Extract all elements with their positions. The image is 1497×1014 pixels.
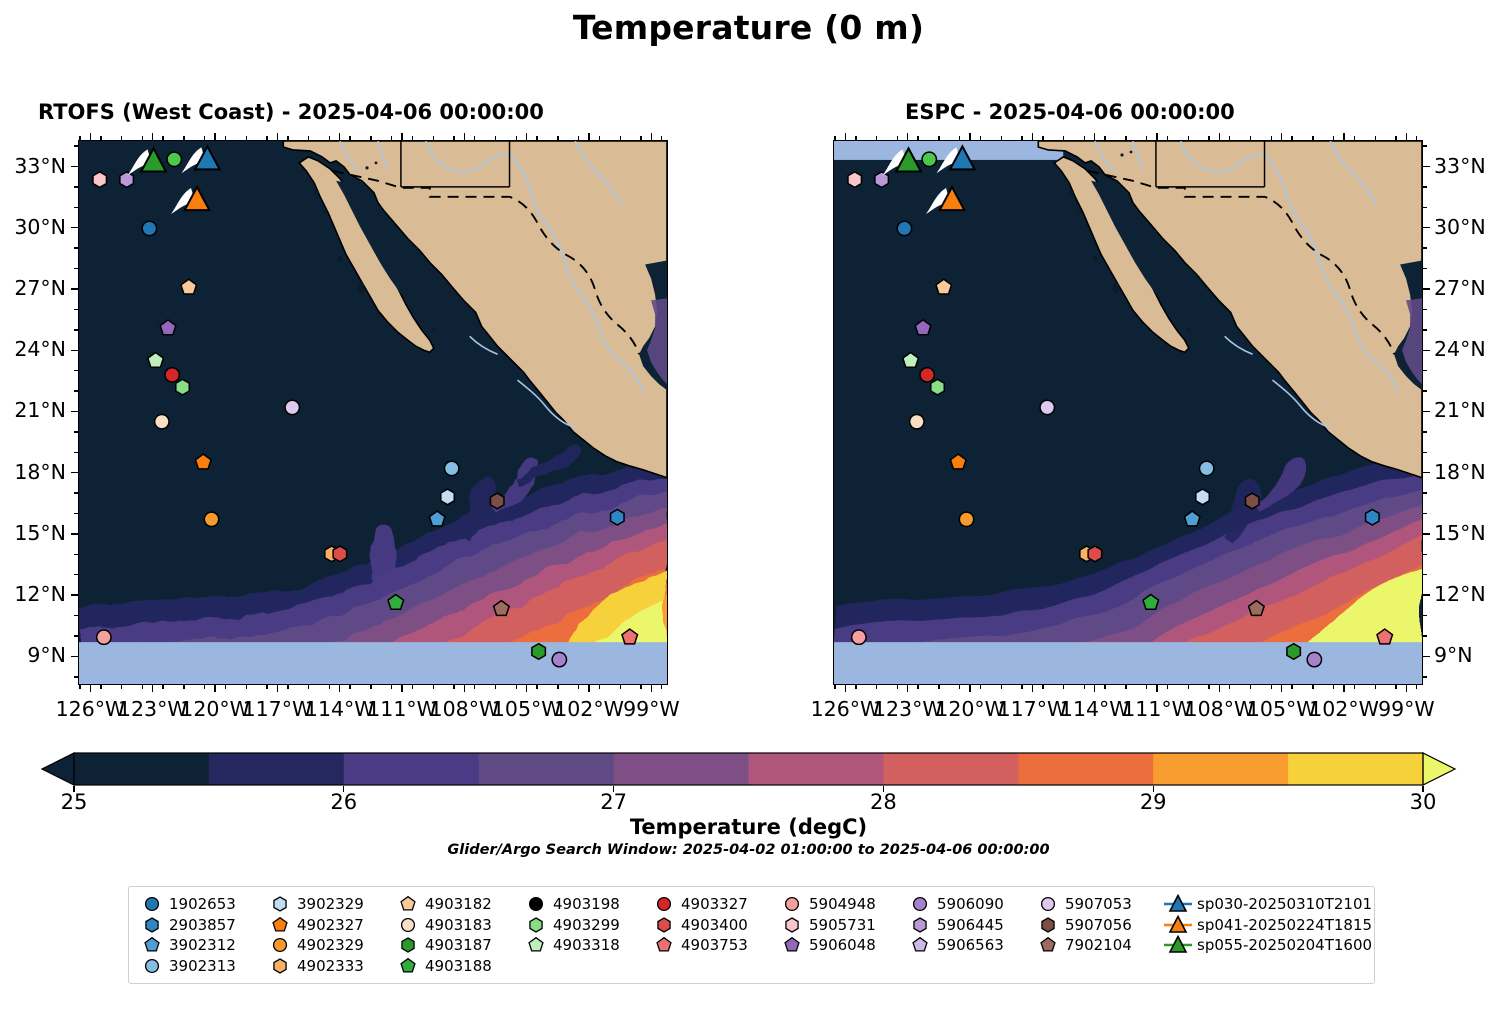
x-top-minor-tick [246, 136, 247, 140]
x-top-tick [1343, 133, 1344, 140]
float-legend-icon [781, 894, 803, 914]
y-tick [1423, 166, 1430, 167]
y-minor-tick [1423, 615, 1427, 616]
y-tick-label: 15°N [0, 521, 66, 545]
x-minor-tick [1333, 685, 1334, 689]
legend-symbol [1161, 935, 1195, 955]
x-minor-tick [474, 685, 475, 689]
colorbar-band [883, 753, 1019, 785]
colorbar-band [344, 753, 480, 785]
x-top-minor-tick [495, 136, 496, 140]
colorbar-tick-label: 29 [1140, 790, 1167, 814]
float-marker[interactable] [441, 489, 454, 505]
float-marker[interactable] [875, 172, 888, 188]
y-tick [1423, 411, 1430, 412]
x-tick-label: 120°W [180, 697, 250, 721]
float-marker[interactable] [155, 414, 169, 428]
x-top-tick [588, 133, 589, 140]
legend-float-entry[interactable]: 4903299 [521, 915, 649, 936]
y-tick-label: 27°N [0, 276, 66, 300]
x-top-minor-tick [578, 136, 579, 140]
float-marker[interactable] [445, 461, 459, 475]
x-tick-label: 126°W [56, 697, 126, 721]
x-tick-label: 99°W [623, 697, 680, 721]
x-top-minor-tick [412, 136, 413, 140]
x-minor-tick [917, 685, 918, 689]
legend-symbol [265, 915, 295, 935]
float-legend-icon [909, 894, 931, 914]
y-minor-tick [74, 574, 78, 575]
float-marker[interactable] [120, 172, 133, 188]
legend-float-entry[interactable]: 5906563 [905, 935, 1033, 956]
legend-label: 7902104 [1063, 936, 1132, 954]
legend-float-entry[interactable]: 2903857 [137, 915, 265, 936]
x-minor-tick [516, 685, 517, 689]
legend-float-entry[interactable]: 7902104 [1033, 935, 1161, 956]
float-marker[interactable] [93, 172, 106, 188]
x-top-minor-tick [938, 136, 939, 140]
x-top-minor-tick [620, 136, 621, 140]
x-top-minor-tick [1021, 136, 1022, 140]
legend-column: 590609059064455906563 [905, 894, 1033, 976]
x-tick-label: 111°W [367, 697, 437, 721]
legend-symbol [265, 894, 295, 914]
legend-glider-entry[interactable]: sp055-20250204T1600 [1161, 935, 1389, 956]
float-legend-icon [525, 915, 547, 935]
float-legend-icon [781, 935, 803, 955]
float-legend-icon [141, 915, 163, 935]
float-marker[interactable] [1366, 509, 1379, 525]
x-tick [1094, 685, 1095, 692]
y-minor-tick [1423, 492, 1427, 493]
legend-label: 4903188 [423, 957, 492, 975]
legend-symbol [393, 956, 423, 976]
legend-float-entry[interactable]: 4902327 [265, 915, 393, 936]
x-top-minor-tick [640, 136, 641, 140]
legend-float-entry[interactable]: 4902333 [265, 956, 393, 977]
float-legend-icon [525, 894, 547, 914]
float-legend-icon [653, 915, 675, 935]
x-tick [1406, 685, 1407, 692]
legend-float-entry[interactable]: 3902313 [137, 956, 265, 977]
x-minor-tick [162, 685, 163, 689]
y-tick-label: 21°N [1434, 398, 1486, 422]
x-tick [464, 685, 465, 692]
legend-symbol [393, 935, 423, 955]
legend-label: 5905731 [807, 916, 876, 934]
legend-float-entry[interactable]: 4903182 [393, 894, 521, 915]
x-top-minor-tick [391, 136, 392, 140]
y-tick [1423, 350, 1430, 351]
legend-label: 5907056 [1063, 916, 1132, 934]
x-top-minor-tick [1395, 136, 1396, 140]
x-minor-tick [433, 685, 434, 689]
y-minor-tick [1423, 247, 1427, 248]
legend-symbol [905, 915, 935, 935]
x-minor-tick [1021, 685, 1022, 689]
legend-label: 5906445 [935, 916, 1004, 934]
x-minor-tick [100, 685, 101, 689]
colorbar-tick [613, 786, 614, 792]
legend-symbol [649, 915, 679, 935]
x-minor-tick [1042, 685, 1043, 689]
x-minor-tick [536, 685, 537, 689]
x-top-tick [969, 133, 970, 140]
x-tick-label: 117°W [998, 697, 1068, 721]
legend-float-entry[interactable]: 1902653 [137, 894, 265, 915]
x-top-minor-tick [536, 136, 537, 140]
colorbar-band [614, 753, 750, 785]
y-minor-tick [1423, 390, 1427, 391]
colorbar-tick-label: 28 [870, 790, 897, 814]
float-marker[interactable] [142, 221, 156, 235]
x-tick [339, 685, 340, 692]
x-tick-label: 117°W [243, 697, 313, 721]
legend-label: sp041-20250224T1815 [1195, 916, 1372, 934]
x-minor-tick [1188, 685, 1189, 689]
x-top-minor-tick [516, 136, 517, 140]
x-minor-tick [1416, 685, 1417, 689]
x-minor-tick [640, 685, 641, 689]
legend-column: 590494859057315906048 [777, 894, 905, 976]
y-minor-tick [1423, 452, 1427, 453]
y-tick-label: 12°N [1434, 582, 1486, 606]
float-marker[interactable] [611, 509, 624, 525]
x-tick-label: 123°W [873, 697, 943, 721]
float-marker[interactable] [897, 221, 911, 235]
legend-column: 490319849032994903318 [521, 894, 649, 976]
colorbar-tick-label: 25 [61, 790, 88, 814]
float-marker[interactable] [1200, 461, 1214, 475]
x-top-minor-tick [1063, 136, 1064, 140]
x-tick [214, 685, 215, 692]
x-minor-tick [1084, 685, 1085, 689]
y-tick-label: 33°N [0, 154, 66, 178]
colorbar-band [209, 753, 345, 785]
x-top-minor-tick [917, 136, 918, 140]
float-marker[interactable] [97, 630, 111, 644]
float-marker[interactable] [285, 400, 299, 414]
x-minor-tick [287, 685, 288, 689]
x-top-tick [907, 133, 908, 140]
legend-float-entry[interactable]: 5906445 [905, 915, 1033, 936]
colorbar-tick [343, 786, 344, 792]
y-minor-tick [1423, 676, 1427, 677]
float-marker[interactable] [204, 512, 218, 526]
float-legend-icon [397, 956, 419, 976]
x-top-tick [845, 133, 846, 140]
legend-float-entry[interactable]: 3902312 [137, 935, 265, 956]
y-tick [1423, 472, 1430, 473]
legend-float-entry[interactable]: 4903187 [393, 935, 521, 956]
x-top-tick [1156, 133, 1157, 140]
glider-legend-icon [1163, 894, 1193, 914]
map-panel-rtofs[interactable] [78, 140, 668, 685]
legend-float-entry[interactable]: 3902329 [265, 894, 393, 915]
x-top-tick [464, 133, 465, 140]
legend-column: 4903182490318349031874903188 [393, 894, 521, 976]
legend-label: sp055-20250204T1600 [1195, 936, 1372, 954]
legend-float-entry[interactable]: 4903753 [649, 935, 777, 956]
x-top-minor-tick [162, 136, 163, 140]
y-tick-label: 18°N [1434, 460, 1486, 484]
x-minor-tick [1312, 685, 1313, 689]
x-tick [90, 685, 91, 692]
y-minor-tick [74, 554, 78, 555]
y-minor-tick [1423, 513, 1427, 514]
float-marker[interactable] [490, 493, 503, 509]
legend-label: 3902329 [295, 895, 364, 913]
float-marker[interactable] [1088, 546, 1101, 562]
legend-float-entry[interactable]: 4903327 [649, 894, 777, 915]
x-tick-label: 108°W [430, 697, 500, 721]
float-legend-icon [269, 915, 291, 935]
legend-label: 4903318 [551, 936, 620, 954]
legend-float-entry[interactable]: 5907053 [1033, 894, 1161, 915]
x-minor-tick [204, 685, 205, 689]
legend-column: 490332749034004903753 [649, 894, 777, 976]
float-marker[interactable] [852, 630, 866, 644]
legend-label: 3902313 [167, 957, 236, 975]
x-tick [969, 685, 970, 692]
float-legend-icon [525, 935, 547, 955]
float-marker[interactable] [1245, 493, 1258, 509]
legend-float-entry[interactable]: 4903400 [649, 915, 777, 936]
y-tick [71, 227, 78, 228]
float-marker[interactable] [176, 379, 189, 395]
legend[interactable]: 1902653290385739023123902313390232949023… [128, 886, 1375, 984]
x-minor-tick [121, 685, 122, 689]
y-minor-tick [1423, 431, 1427, 432]
legend-label: 2903857 [167, 916, 236, 934]
float-legend-icon [397, 935, 419, 955]
x-top-minor-tick [433, 136, 434, 140]
x-top-minor-tick [1167, 136, 1168, 140]
y-tick [71, 472, 78, 473]
float-marker[interactable] [552, 652, 566, 666]
x-minor-tick [412, 685, 413, 689]
x-tick-label: 111°W [1122, 697, 1192, 721]
x-tick-label: 108°W [1185, 697, 1255, 721]
x-top-minor-tick [370, 136, 371, 140]
colorbar-over-arrow [1423, 753, 1455, 785]
x-tick-label: 102°W [554, 697, 624, 721]
y-minor-tick [1423, 268, 1427, 269]
y-minor-tick [74, 492, 78, 493]
y-tick-label: 27°N [1434, 276, 1486, 300]
x-minor-tick [620, 685, 621, 689]
float-marker[interactable] [910, 414, 924, 428]
legend-label: 5906048 [807, 936, 876, 954]
y-minor-tick [74, 268, 78, 269]
legend-symbol [521, 935, 551, 955]
colorbar-tick [1422, 786, 1423, 792]
x-top-minor-tick [266, 136, 267, 140]
y-tick-label: 24°N [1434, 337, 1486, 361]
x-top-minor-tick [204, 136, 205, 140]
legend-symbol [777, 894, 807, 914]
x-minor-tick [1208, 685, 1209, 689]
y-tick-label: 30°N [1434, 215, 1486, 239]
x-minor-tick [266, 685, 267, 689]
legend-float-entry[interactable]: 5906048 [777, 935, 905, 956]
colorbar-tick [883, 786, 884, 792]
x-tick-label: 126°W [811, 697, 881, 721]
x-minor-tick [246, 685, 247, 689]
float-legend-icon [269, 956, 291, 976]
legend-symbol [1161, 894, 1195, 914]
x-top-minor-tick [1250, 136, 1251, 140]
float-marker[interactable] [848, 172, 861, 188]
legend-symbol [1033, 935, 1063, 955]
y-minor-tick [74, 513, 78, 514]
y-minor-tick [74, 247, 78, 248]
y-tick [1423, 656, 1430, 657]
y-minor-tick [74, 309, 78, 310]
x-minor-tick [308, 685, 309, 689]
float-marker[interactable] [931, 379, 944, 395]
panel-title-espc: ESPC - 2025-04-06 00:00:00 [905, 100, 1235, 124]
legend-label: 5906563 [935, 936, 1004, 954]
legend-label: 4903327 [679, 895, 748, 913]
x-tick-label: 114°W [1060, 697, 1130, 721]
legend-float-entry[interactable]: 5905731 [777, 915, 905, 936]
x-top-tick [526, 133, 527, 140]
y-tick [71, 288, 78, 289]
legend-float-entry[interactable]: 4902329 [265, 935, 393, 956]
x-top-minor-tick [557, 136, 558, 140]
float-marker[interactable] [1287, 644, 1300, 660]
legend-label: 4902333 [295, 957, 364, 975]
x-top-minor-tick [1271, 136, 1272, 140]
y-tick-label: 33°N [1434, 154, 1486, 178]
x-tick [1343, 685, 1344, 692]
x-top-minor-tick [834, 136, 835, 140]
x-minor-tick [225, 685, 226, 689]
legend-symbol [521, 915, 551, 935]
x-minor-tick [79, 685, 80, 689]
float-legend-icon [141, 894, 163, 914]
legend-glider-entry[interactable]: sp041-20250224T1815 [1161, 915, 1389, 936]
legend-label: sp030-20250310T2101 [1195, 895, 1372, 913]
legend-symbol [137, 956, 167, 976]
legend-symbol [1033, 894, 1063, 914]
x-minor-tick [370, 685, 371, 689]
x-top-minor-tick [1084, 136, 1085, 140]
legend-glider-entry[interactable]: sp030-20250310T2101 [1161, 894, 1389, 915]
x-top-tick [90, 133, 91, 140]
float-legend-icon [141, 935, 163, 955]
legend-column: 590705359070567902104 [1033, 894, 1161, 976]
y-minor-tick [1423, 370, 1427, 371]
legend-label: 4902329 [295, 936, 364, 954]
x-top-minor-tick [1416, 136, 1417, 140]
x-minor-tick [1271, 685, 1272, 689]
x-top-minor-tick [599, 136, 600, 140]
x-minor-tick [391, 685, 392, 689]
x-tick-label: 114°W [305, 697, 375, 721]
x-top-minor-tick [1229, 136, 1230, 140]
x-top-minor-tick [121, 136, 122, 140]
float-marker[interactable] [1307, 652, 1321, 666]
x-tick [152, 685, 153, 692]
legend-float-entry[interactable]: 4903198 [521, 894, 649, 915]
legend-label: 4903400 [679, 916, 748, 934]
map-svg-espc [834, 141, 1422, 684]
legend-float-entry[interactable]: 4903318 [521, 935, 649, 956]
legend-float-entry[interactable]: 5907056 [1033, 915, 1161, 936]
float-marker[interactable] [532, 644, 545, 660]
float-marker[interactable] [959, 512, 973, 526]
legend-float-entry[interactable]: 4903183 [393, 915, 521, 936]
float-legend-icon [397, 894, 419, 914]
legend-symbol [777, 915, 807, 935]
colorbar-tick-label: 30 [1410, 790, 1437, 814]
x-tick [1219, 685, 1220, 692]
float-marker[interactable] [167, 152, 181, 166]
float-marker[interactable] [1040, 400, 1054, 414]
y-minor-tick [1423, 574, 1427, 575]
x-top-minor-tick [308, 136, 309, 140]
y-tick-label: 30°N [0, 215, 66, 239]
x-minor-tick [349, 685, 350, 689]
float-legend-icon [269, 894, 291, 914]
x-tick [277, 685, 278, 692]
x-minor-tick [959, 685, 960, 689]
y-tick-label: 9°N [0, 643, 66, 667]
x-tick [526, 685, 527, 692]
legend-label: 4903183 [423, 916, 492, 934]
float-marker[interactable] [920, 368, 934, 382]
x-top-minor-tick [183, 136, 184, 140]
y-tick [1423, 288, 1430, 289]
legend-float-entry[interactable]: 5906090 [905, 894, 1033, 915]
x-minor-tick [876, 685, 877, 689]
float-legend-icon [1037, 935, 1059, 955]
float-legend-icon [141, 956, 163, 976]
x-top-minor-tick [225, 136, 226, 140]
float-marker[interactable] [1196, 489, 1209, 505]
float-marker[interactable] [922, 152, 936, 166]
x-top-tick [1032, 133, 1033, 140]
x-top-minor-tick [1001, 136, 1002, 140]
float-marker[interactable] [333, 546, 346, 562]
y-tick [1423, 594, 1430, 595]
map-svg-rtofs [79, 141, 667, 684]
y-tick [71, 350, 78, 351]
colorbar-tick-label: 26 [330, 790, 357, 814]
x-top-minor-tick [142, 136, 143, 140]
x-minor-tick [578, 685, 579, 689]
legend-float-entry[interactable]: 5904948 [777, 894, 905, 915]
x-tick-label: 99°W [1378, 697, 1435, 721]
legend-label: 4902327 [295, 916, 364, 934]
x-top-minor-tick [1125, 136, 1126, 140]
map-panel-espc[interactable] [833, 140, 1423, 685]
x-minor-tick [834, 685, 835, 689]
float-legend-icon [269, 935, 291, 955]
float-marker[interactable] [165, 368, 179, 382]
y-minor-tick [74, 370, 78, 371]
x-top-minor-tick [1312, 136, 1313, 140]
colorbar-band [749, 753, 885, 785]
glider-legend-icon [1163, 915, 1193, 935]
x-minor-tick [1229, 685, 1230, 689]
float-legend-icon [653, 894, 675, 914]
x-top-tick [401, 133, 402, 140]
legend-float-entry[interactable]: 4903188 [393, 956, 521, 977]
x-minor-tick [938, 685, 939, 689]
